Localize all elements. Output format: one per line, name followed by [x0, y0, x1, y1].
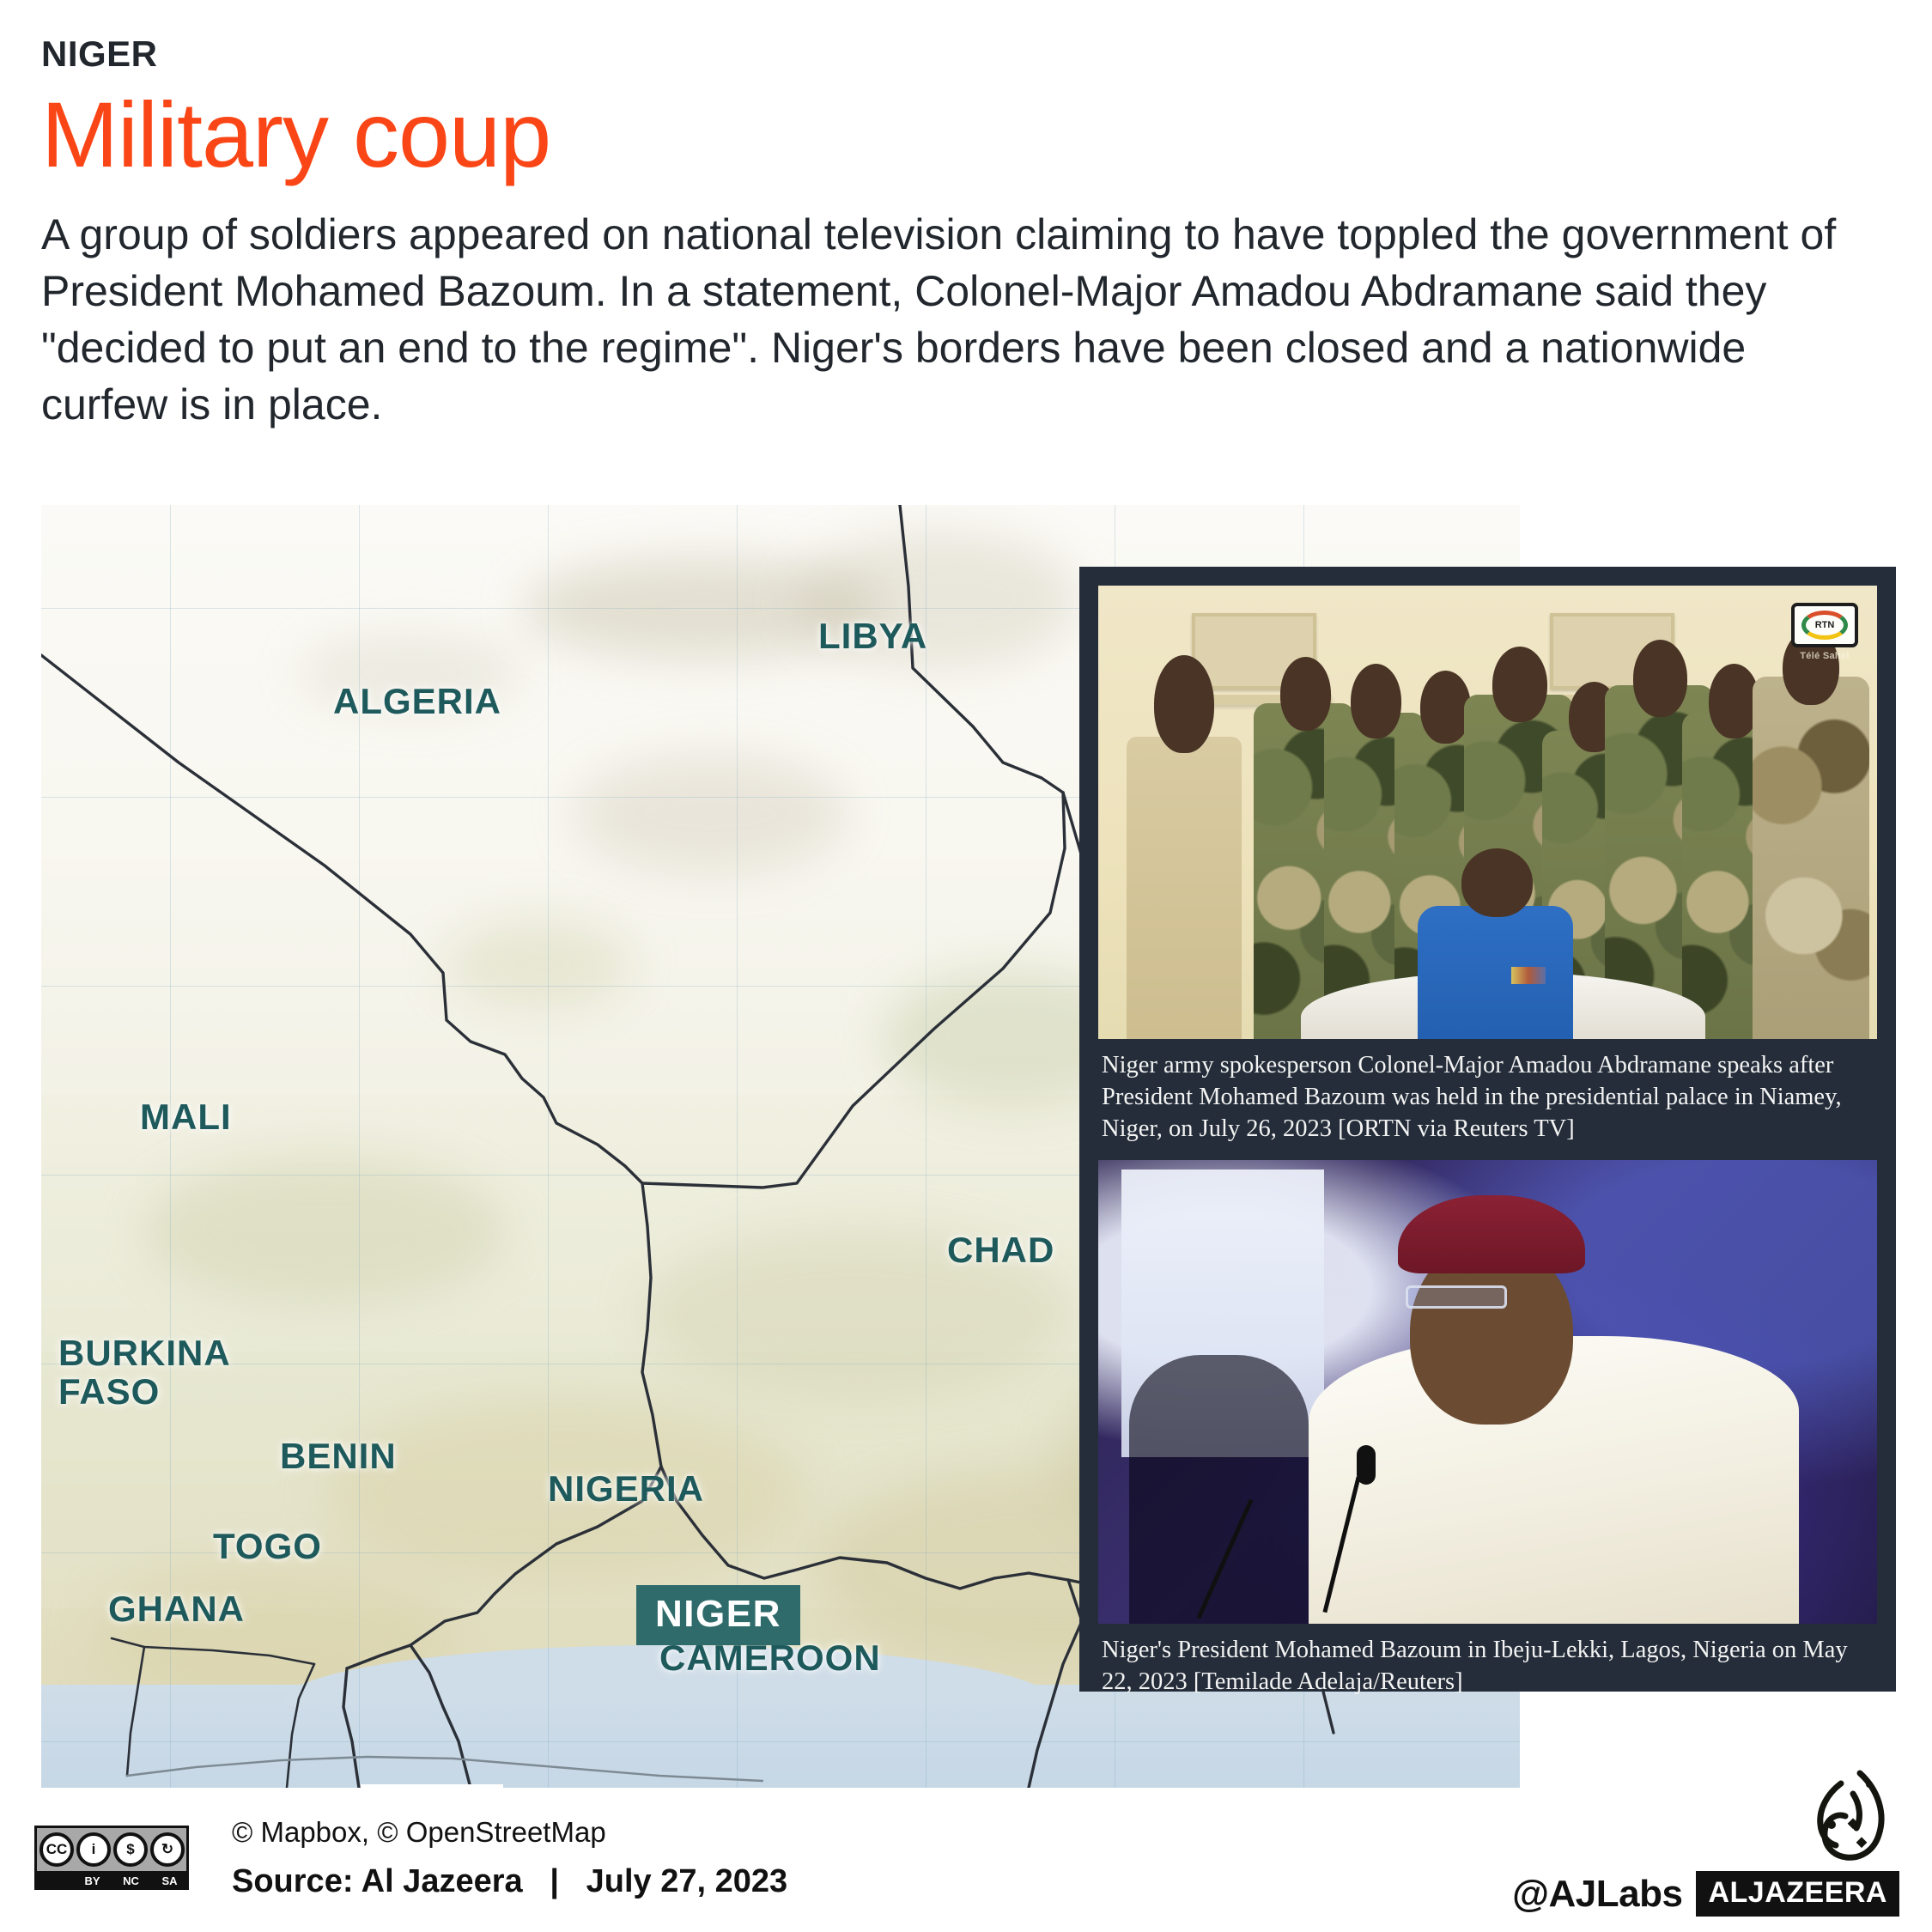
- al-jazeera-logo-icon: [1796, 1768, 1899, 1864]
- background-figure: [1129, 1355, 1309, 1624]
- photo-caption-junta: Niger army spokesperson Colonel-Major Am…: [1098, 1039, 1877, 1153]
- officer-head: [1633, 640, 1687, 718]
- capital-label: Niamey: [361, 1784, 503, 1788]
- officer-head: [1351, 664, 1401, 738]
- aljazeera-wordmark: ALJAZEERA: [1696, 1871, 1899, 1917]
- country-label-benin: BENIN: [280, 1437, 397, 1475]
- officer-uniform: [1127, 737, 1242, 1039]
- standfirst-text: A group of soldiers appeared on national…: [41, 206, 1844, 433]
- brand-block: @AJLabs ALJAZEERA: [1512, 1768, 1899, 1917]
- photo-block-president: Niger's President Mohamed Bazoum in Ibej…: [1098, 1160, 1877, 1706]
- ajlabs-handle: @AJLabs: [1512, 1873, 1682, 1916]
- country-label-mali: MALI: [140, 1097, 232, 1136]
- country-label-togo: TOGO: [213, 1527, 322, 1565]
- photo-caption-president: Niger's President Mohamed Bazoum in Ibej…: [1098, 1624, 1877, 1706]
- rank-ribbons: [1511, 967, 1546, 984]
- officer-figure: [1121, 631, 1246, 1039]
- footer: CC i $ ↻ BY NC SA © Mapbox, © OpenStreet…: [0, 1788, 1932, 1932]
- cc-icon: CC: [39, 1832, 74, 1867]
- country-label-ghana: GHANA: [108, 1589, 245, 1628]
- rtn-ring: RTN: [1801, 611, 1848, 640]
- rtn-watermark-label: RTN: [1815, 620, 1835, 630]
- rtn-watermark-icon: RTN: [1791, 603, 1858, 647]
- kicker-label: NIGER: [41, 34, 1896, 74]
- spokesperson-figure: [1418, 848, 1573, 1039]
- country-label-burkina-faso: BURKINA FASO: [58, 1334, 231, 1412]
- photo-panel: RTN Télé Sahel Niger army spokesperson C…: [1079, 567, 1896, 1692]
- cc-sa-icon: ↻: [150, 1832, 185, 1867]
- attribution-block: © Mapbox, © OpenStreetMap Source: Al Jaz…: [232, 1815, 787, 1900]
- cc-label-row: BY NC SA: [34, 1871, 189, 1890]
- source-line: Source: Al Jazeera | July 27, 2023: [232, 1863, 787, 1900]
- brand-row: @AJLabs ALJAZEERA: [1512, 1871, 1899, 1917]
- eyeglasses-icon: [1406, 1285, 1507, 1309]
- page-title: Military coup: [41, 86, 1896, 183]
- cc-nc-icon: $: [113, 1832, 148, 1867]
- cc-nc-label: NC: [112, 1874, 150, 1887]
- photo-junta-broadcast: RTN Télé Sahel: [1098, 586, 1877, 1039]
- rtn-watermark-sublabel: Télé Sahel: [1791, 651, 1858, 661]
- officer-head: [1280, 657, 1331, 731]
- spokesperson-head: [1461, 848, 1533, 917]
- officer-head: [1154, 655, 1214, 753]
- country-label-libya: LIBYA: [818, 617, 927, 655]
- cc-sa-label: SA: [150, 1874, 189, 1887]
- microphone-icon: [1357, 1445, 1376, 1485]
- officer-figure: [1753, 677, 1869, 1039]
- cc-by-icon: i: [76, 1832, 111, 1867]
- header: NIGER Military coup A group of soldiers …: [41, 34, 1896, 433]
- creative-commons-badge: CC i $ ↻ BY NC SA: [34, 1826, 189, 1887]
- photo-block-junta: RTN Télé Sahel Niger army spokesperson C…: [1098, 586, 1877, 1153]
- country-label-chad: CHAD: [947, 1230, 1054, 1269]
- country-label-niger-highlight: NIGER: [636, 1585, 800, 1645]
- spokesperson-uniform: [1418, 906, 1573, 1039]
- map-credit: © Mapbox, © OpenStreetMap: [232, 1815, 787, 1850]
- photo-president-bazoum: [1098, 1160, 1877, 1624]
- country-label-nigeria: NIGERIA: [548, 1469, 704, 1508]
- country-label-algeria: ALGERIA: [333, 682, 501, 720]
- officer-head: [1492, 647, 1546, 722]
- cc-icon-row: CC i $ ↻: [34, 1826, 189, 1874]
- cc-by-label: BY: [73, 1874, 112, 1887]
